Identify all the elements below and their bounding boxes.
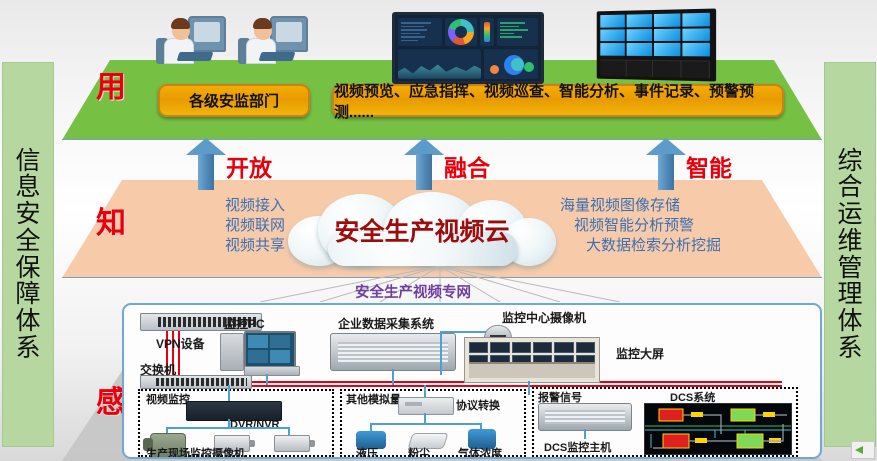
cloud-right-item-1: 海量视频图像存储 [560, 196, 795, 216]
operator-at-computer-icon [156, 8, 226, 70]
video-wall-display [597, 9, 716, 82]
dept-box[interactable]: 各级安监部门 [158, 84, 310, 117]
functions-box[interactable]: 视频预览、应急指挥、视频巡查、智能分析、事件记录、预警预测...... [332, 84, 784, 117]
arrow-open [186, 138, 226, 190]
cloud-title: 安全生产视频云 [288, 212, 556, 248]
group2-item-hydraulic: 液压 [356, 445, 378, 459]
analog-branch-h [370, 423, 480, 425]
cloud-left-item-1: 视频接入 [130, 196, 285, 216]
layer-label-use: 用 [96, 62, 126, 106]
group3-item-dcs-host: DCS监控主机 [544, 439, 611, 455]
device-label-data-acq: 企业数据采集系统 [338, 315, 434, 332]
protocol-converter-icon [398, 397, 454, 415]
dcs-host-icon [538, 403, 632, 431]
group-title-video-surveillance: 视频监控 [146, 391, 190, 407]
arrow-label-fuse: 融合 [444, 149, 490, 183]
left-pillar-info-security: 信息安全保障体系 [2, 62, 54, 447]
wall-uplink [528, 381, 530, 395]
layer-label-know: 知 [96, 198, 126, 242]
cloud-left-item-3: 视频共享 [130, 236, 285, 256]
pc-uplink [266, 374, 268, 385]
arrow-label-open: 开放 [226, 149, 272, 183]
group1-item-field-cameras: 生产现场监控摄像机 [146, 445, 245, 459]
device-label-vpn: VPN设备 [156, 335, 205, 352]
device-label-monitor-pc: 监控PC [224, 315, 265, 332]
data-acquisition-server-icon [330, 333, 456, 371]
bullet-camera-icon-2 [274, 435, 310, 452]
arrow-label-smart: 智能 [686, 149, 732, 183]
group2-item-converter: 协议转换 [456, 397, 500, 413]
analytics-dashboard-screen [392, 12, 544, 84]
video-cloud-shape: 安全生产视频云 [288, 192, 556, 266]
right-pillar-ops-management: 综合运维管理体系 [824, 62, 876, 447]
data-acq-uplink [392, 369, 394, 385]
arrow-smart [646, 138, 686, 190]
camera-link-v [440, 331, 442, 375]
private-network-label: 安全生产视频专网 [355, 281, 471, 302]
camera-link-h [440, 331, 486, 333]
group2-item-dust: 粉尘 [408, 445, 430, 459]
cloud-left-item-2: 视频联网 [130, 216, 285, 236]
group1-item-dvr: DVR/NVR [230, 419, 280, 431]
analog-branch-mid [424, 413, 426, 423]
dvr-branch-h [166, 427, 288, 429]
pc-monitor-icon [244, 331, 296, 369]
device-label-switch: 交换机 [140, 361, 176, 378]
resize-corner-icon[interactable] [851, 441, 875, 459]
cloud-right-capabilities: 海量视频图像存储 视频智能分析预警 大数据检索分析挖掘 [560, 196, 795, 255]
operator-at-computer-icon-2 [238, 8, 308, 70]
arrow-fuse [404, 138, 444, 190]
monitor-wall-icon [464, 337, 600, 383]
right-pillar-text: 综合运维管理体系 [837, 148, 862, 362]
pc-keyboard-icon [244, 366, 300, 376]
dvr-nvr-icon [186, 401, 282, 421]
dvr-branch-2 [228, 419, 230, 427]
dcs-scada-screen [644, 403, 792, 455]
dvr-branch-3 [288, 427, 290, 435]
analog-branch-1 [370, 423, 372, 431]
group-title-analog: 其他模拟量 [346, 391, 401, 407]
device-label-center-camera: 监控中心摄像机 [502, 309, 586, 326]
device-label-video-wall: 监控大屏 [616, 345, 664, 362]
cloud-right-item-3: 大数据检索分析挖掘 [560, 236, 795, 256]
cloud-right-item-2: 视频智能分析预警 [560, 216, 795, 236]
group2-item-gas: 气体浓度 [458, 445, 502, 459]
left-pillar-text: 信息安全保障体系 [15, 148, 40, 362]
diagram-canvas: 用 知 感 信息安全保障体系 综合运维管理体系 [0, 0, 877, 461]
cloud-left-capabilities: 视频接入 视频联网 视频共享 [130, 196, 285, 255]
infrastructure-panel: VPN设备 交换机 监控PC 企业数据采集系统 监控中心摄像机 监控大屏 视频监… [122, 303, 822, 459]
dcs-host-link [584, 429, 586, 439]
pc-tower-icon [220, 333, 244, 371]
